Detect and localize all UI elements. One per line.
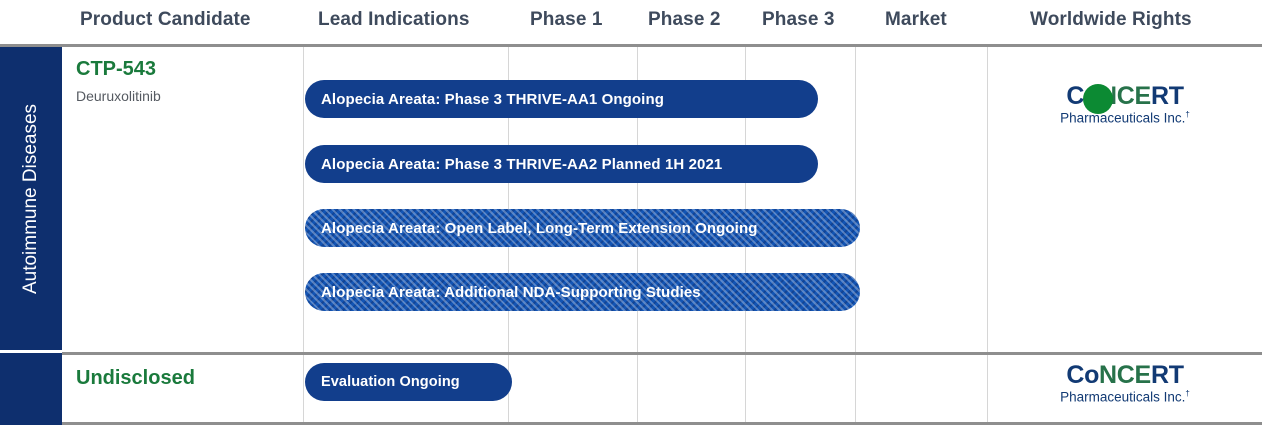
trademark-icon: † — [1185, 389, 1189, 398]
worldwide-rights-logo: CoNCERT Pharmaceuticals Inc.† — [1025, 363, 1225, 405]
therapeutic-area-band: Autoimmune Diseases — [0, 47, 62, 350]
program-label: Alopecia Areata: Phase 3 THRIVE-AA1 Ongo… — [305, 91, 664, 108]
logo-tagline: Pharmaceuticals Inc.† — [1025, 390, 1225, 405]
column-header-phase-2: Phase 2 — [648, 9, 721, 31]
program-bar[interactable]: Alopecia Areata: Phase 3 THRIVE-AA2 Plan… — [305, 145, 818, 183]
logo-wordmark: CoNCERT — [1025, 84, 1225, 109]
logo-part-co: Co — [1066, 361, 1099, 389]
header-divider — [0, 44, 1262, 47]
column-header-phase-1: Phase 1 — [530, 9, 603, 31]
column-header-worldwide-rights: Worldwide Rights — [1030, 9, 1192, 31]
column-header-phase-3: Phase 3 — [762, 9, 835, 31]
program-label: Alopecia Areata: Open Label, Long-Term E… — [305, 220, 757, 237]
gridline-lead-indications — [303, 47, 304, 425]
program-label: Alopecia Areata: Phase 3 THRIVE-AA2 Plan… — [305, 156, 722, 173]
candidate-name: Undisclosed — [76, 367, 195, 390]
worldwide-rights-logo: CoNCERT Pharmaceuticals Inc.† — [1025, 84, 1225, 126]
therapeutic-area-label: Autoimmune Diseases — [20, 103, 42, 293]
column-header-lead-indications: Lead Indications — [318, 9, 470, 31]
candidate-name: CTP-543 — [76, 58, 156, 81]
program-bar[interactable]: Evaluation Ongoing — [305, 363, 512, 401]
logo-part-rt: RT — [1151, 361, 1184, 389]
column-header-row: Product Candidate Lead Indications Phase… — [0, 0, 1262, 46]
gridline-worldwide-rights — [987, 47, 988, 425]
candidate-generic-name: Deuruxolitinib — [76, 88, 161, 104]
logo-tagline-text: Pharmaceuticals Inc. — [1060, 390, 1185, 405]
program-label: Evaluation Ongoing — [305, 374, 460, 390]
program-bar[interactable]: Alopecia Areata: Additional NDA-Supporti… — [305, 273, 860, 311]
pipeline-chart: Product Candidate Lead Indications Phase… — [0, 0, 1262, 425]
logo-tagline-text: Pharmaceuticals Inc. — [1060, 111, 1185, 126]
logo-part-nce: NCE — [1099, 361, 1151, 389]
logo-part-rt: RT — [1151, 82, 1184, 110]
column-header-product-candidate: Product Candidate — [80, 9, 251, 31]
program-label: Alopecia Areata: Additional NDA-Supporti… — [305, 284, 701, 301]
trademark-icon: † — [1185, 110, 1189, 119]
logo-wordmark: CoNCERT — [1025, 363, 1225, 388]
column-header-market: Market — [885, 9, 947, 31]
program-bar[interactable]: Alopecia Areata: Open Label, Long-Term E… — [305, 209, 860, 247]
row-divider — [62, 352, 1262, 355]
therapeutic-area-band-lower — [0, 353, 62, 425]
logo-tagline: Pharmaceuticals Inc.† — [1025, 111, 1225, 126]
program-bar[interactable]: Alopecia Areata: Phase 3 THRIVE-AA1 Ongo… — [305, 80, 818, 118]
milestone-dot-icon — [1083, 84, 1113, 114]
